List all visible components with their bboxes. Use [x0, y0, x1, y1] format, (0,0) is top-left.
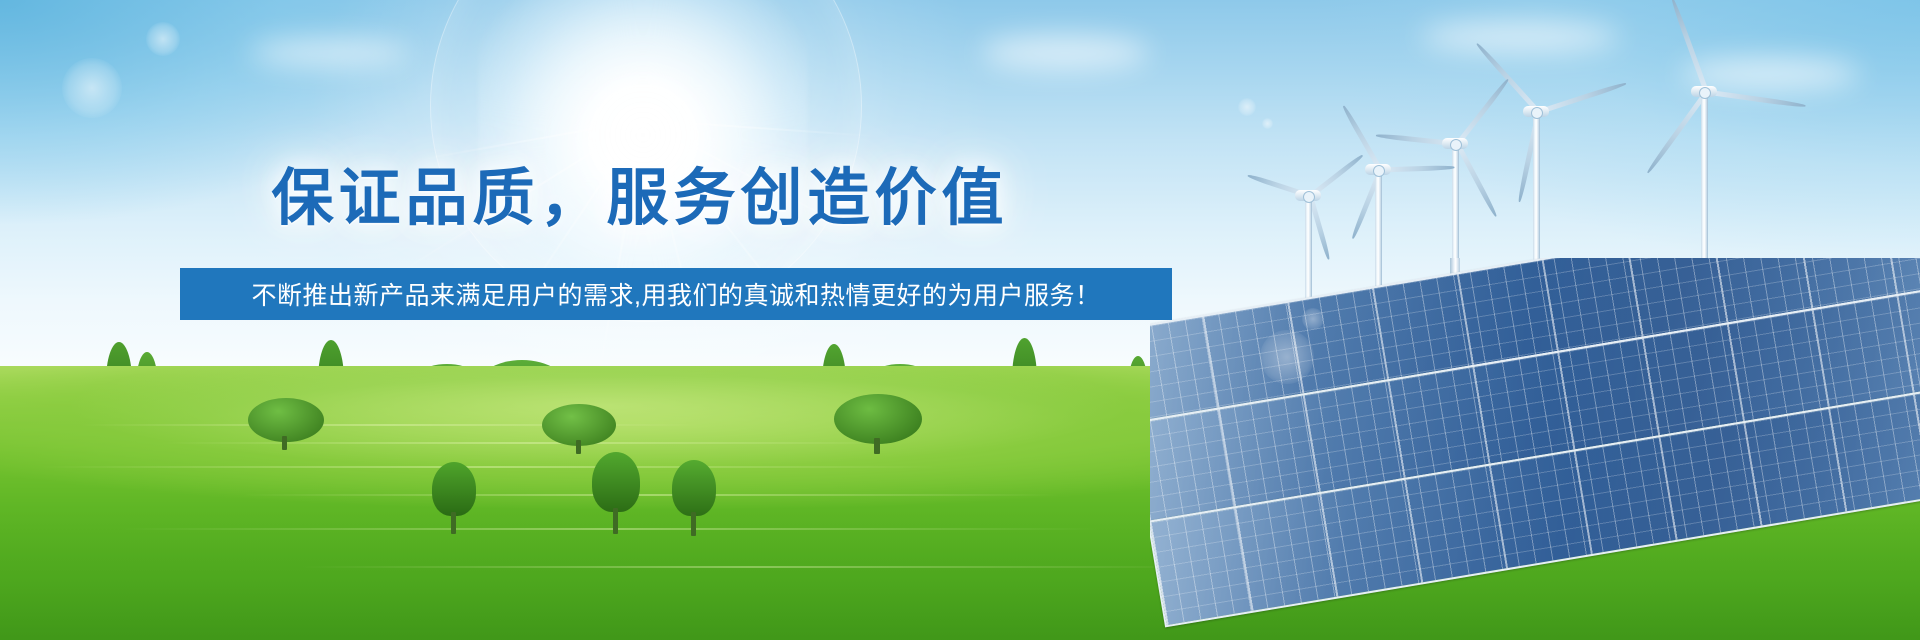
lens-flare-dot [1262, 118, 1273, 129]
lens-flare-dot [62, 58, 122, 118]
banner-headline: 保证品质，服务创造价值 [0, 168, 1280, 230]
high-cloud [1420, 22, 1620, 52]
high-cloud [980, 36, 1150, 70]
foreground-bush [834, 394, 922, 444]
bush-trunk [576, 440, 581, 454]
sapling-trunk [451, 512, 456, 534]
sapling-trunk [613, 508, 618, 534]
sapling-trunk [691, 512, 696, 536]
sapling [672, 460, 716, 516]
bush-trunk [282, 436, 287, 450]
hero-banner: 保证品质，服务创造价值 不断推出新产品来满足用户的需求,用我们的真诚和热情更好的… [0, 0, 1920, 640]
panel-lens-flare [1302, 308, 1324, 330]
solar-panel-array [1150, 258, 1920, 640]
panel-rows [1150, 258, 1920, 623]
high-cloud [250, 40, 410, 66]
banner-subtitle-bar: 不断推出新产品来满足用户的需求,用我们的真诚和热情更好的为用户服务！ [180, 268, 1172, 320]
banner-subtitle-text: 不断推出新产品来满足用户的需求,用我们的真诚和热情更好的为用户服务！ [252, 276, 1101, 312]
lens-flare-dot [1238, 98, 1256, 116]
panel-lens-flare [1260, 330, 1314, 384]
lens-flare-dot [146, 22, 180, 56]
sapling [592, 452, 640, 512]
sapling [432, 462, 476, 516]
bush-trunk [874, 438, 880, 454]
